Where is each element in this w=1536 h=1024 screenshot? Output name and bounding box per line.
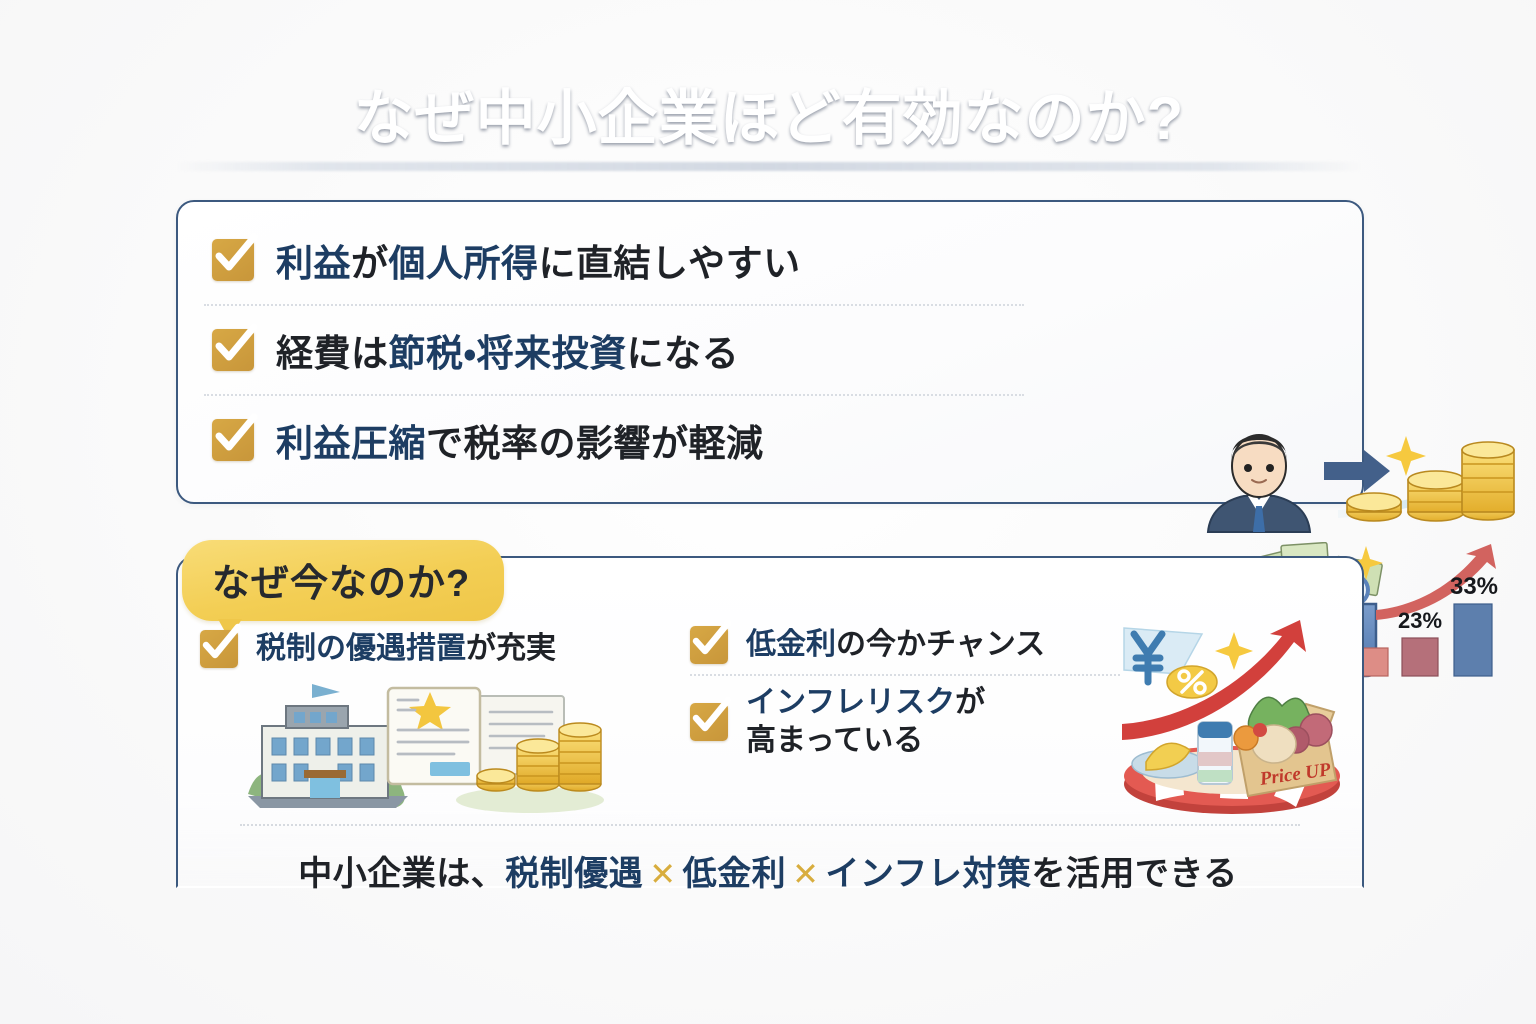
list-item-label: 利益圧縮で税率の影響が軽減 [276, 413, 764, 467]
bar-label-23: 23% [1398, 608, 1442, 633]
checkbox-checked-icon[interactable] [690, 626, 728, 664]
government-building-document-coins-illustration [240, 668, 610, 818]
list-item-label: インフレリスクが高まっている [746, 684, 985, 759]
checkbox-checked-icon[interactable] [690, 703, 728, 741]
why-now-bubble-label: なぜ今なのか? [212, 563, 470, 605]
businessman-to-coins-illustration [1188, 414, 1518, 534]
list-item-label: 税制の優遇措置が充実 [256, 630, 556, 668]
list-item-label: 経費は節税・将来投資になる [276, 323, 739, 377]
summary-line: 中小企業は、税制優遇✕低金利✕インフレ対策を活用できる [0, 846, 1536, 895]
why-now-right-column: 低金利の今かチャンス インフレリスクが高まっている [690, 618, 1120, 769]
bar-label-33: 33% [1450, 573, 1498, 600]
list-item[interactable]: 利益が個人所得に直結しやすい [204, 216, 1024, 304]
title-banner: なぜ中小企業ほど有効なのか? [176, 64, 1362, 162]
checkbox-checked-icon[interactable] [212, 239, 254, 281]
why-now-bubble: なぜ今なのか? [182, 540, 504, 621]
summary-divider [240, 824, 1300, 826]
benefits-check-list: 利益が個人所得に直結しやすい 経費は節税・将来投資になる 利益圧縮で税率の影響が… [204, 216, 1024, 484]
page-title: なぜ中小企業ほど有効なのか? [354, 70, 1185, 157]
list-item-label: 低金利の今かチャンス [746, 626, 1045, 664]
list-item[interactable]: インフレリスクが高まっている [690, 674, 1120, 769]
inflation-grocery-basket-illustration: Price UP [1110, 612, 1360, 822]
slide-canvas: なぜ中小企業ほど有効なのか? 利益が個人所得に直結しやすい 経費は節税・将来投 [0, 0, 1536, 1024]
list-item[interactable]: 経費は節税・将来投資になる [204, 304, 1024, 394]
checkbox-checked-icon[interactable] [212, 329, 254, 371]
checkbox-checked-icon[interactable] [200, 630, 238, 668]
list-item-label: 利益が個人所得に直結しやすい [276, 233, 801, 287]
checkbox-checked-icon[interactable] [212, 419, 254, 461]
benefits-card: 利益が個人所得に直結しやすい 経費は節税・将来投資になる 利益圧縮で税率の影響が… [176, 200, 1364, 504]
list-item[interactable]: 利益圧縮で税率の影響が軽減 [204, 394, 1024, 484]
list-item[interactable]: 低金利の今かチャンス [690, 618, 1120, 674]
